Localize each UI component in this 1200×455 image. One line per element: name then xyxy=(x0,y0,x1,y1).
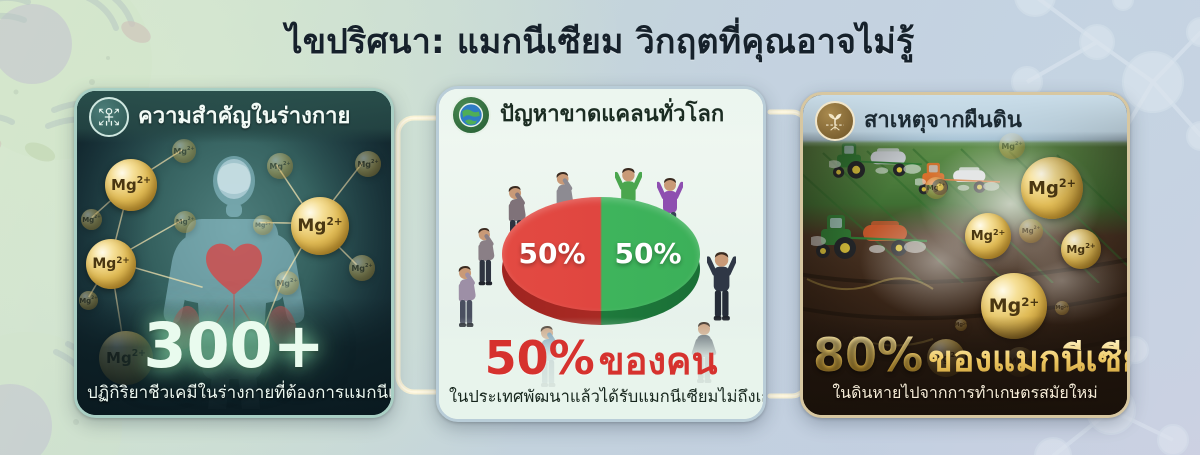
card1-header: ความสำคัญในร่างกาย xyxy=(77,91,391,143)
infographic-canvas: ไขปริศนา: แมกนีเซียม วิกฤตที่คุณอาจไม่รู… xyxy=(0,0,1200,455)
person-figure-happy xyxy=(707,251,736,325)
card2-footer: 50%ของคน ในประเทศพัฒนาแล้วได้รับแมกนีเซี… xyxy=(439,317,763,419)
pie-slice-label-left: 50% xyxy=(504,237,600,270)
mg-bubble: Mg2+ xyxy=(291,197,349,255)
pie-chart: 50% 50% xyxy=(502,197,700,329)
card1-stat-sub: ปฏิกิริยาชีวเคมีในร่างกายที่ต้องการแมกนี… xyxy=(87,379,381,406)
card3-stat-suffix: ของแมกนีเซียม xyxy=(928,339,1130,380)
card1-stat-value: 300+ xyxy=(143,309,324,382)
card1-footer: 300+ ปฏิกิริยาชีวเคมีในร่างกายที่ต้องการ… xyxy=(77,298,391,415)
card2-stat-value: 50% xyxy=(485,331,595,385)
card2-header-label: ปัญหาขาดแคลนทั่วโลก xyxy=(500,104,724,126)
card2-header: ปัญหาขาดแคลนทั่วโลก xyxy=(439,89,763,141)
page-title: ไขปริศนา: แมกนีเซียม วิกฤตที่คุณอาจไม่รู… xyxy=(0,14,1200,68)
mg-bubble: Mg2+ xyxy=(86,239,136,289)
globe-icon xyxy=(451,95,491,135)
mg-bubble: Mg2+ xyxy=(349,255,375,281)
card1-header-label: ความสำคัญในร่างกาย xyxy=(138,106,350,128)
mg-bubble: Mg2+ xyxy=(105,159,157,211)
mg-bubble: Mg2+ xyxy=(174,211,196,233)
card-importance-in-body[interactable]: Mg2+Mg2+Mg2+Mg2+Mg2+Mg2+Mg2+Mg2+Mg2+Mg2+… xyxy=(74,88,394,418)
mg-bubble: Mg2+ xyxy=(355,151,381,177)
card-global-deficiency[interactable]: 50% 50% ปัญหาขาดแคลนทั่วโลก 50%ของคน ในป… xyxy=(436,86,766,422)
mg-bubble: Mg2+ xyxy=(81,209,102,230)
card2-stat-line: 50%ของคน xyxy=(449,335,753,382)
body-arrows-icon xyxy=(89,97,129,137)
mg-bubble: Mg2+ xyxy=(267,153,293,179)
mg-bubble: Mg2+ xyxy=(275,271,299,295)
card2-stat-sub: ในประเทศพัฒนาแล้วได้รับแมกนีเซียมไม่ถึงเ… xyxy=(449,384,753,410)
sprout-soil-icon xyxy=(815,101,855,141)
card3-stat-line: 80%ของแมกนีเซียม xyxy=(813,332,1117,379)
pie-slice-label-right: 50% xyxy=(600,237,696,270)
card3-stat-value: 80% xyxy=(813,328,923,382)
card1-stat-line: 300+ xyxy=(87,314,381,377)
card3-header: สาเหตุจากผืนดิน xyxy=(803,95,1127,147)
card2-stat-suffix: ของคน xyxy=(599,339,718,383)
card3-footer: 80%ของแมกนีเซียม ในดินหายไปจากการทำเกษตร… xyxy=(803,316,1127,415)
card3-header-label: สาเหตุจากผืนดิน xyxy=(864,110,1022,132)
card3-stat-sub: ในดินหายไปจากการทำเกษตรสมัยใหม่ xyxy=(813,381,1117,406)
card-soil-cause[interactable]: Mg2+Mg2+Mg2+Mg2+Mg2+Mg2+Mg2+Mg2+Mg2+Mg2+… xyxy=(800,92,1130,418)
mg-bubble: Mg2+ xyxy=(253,215,273,235)
